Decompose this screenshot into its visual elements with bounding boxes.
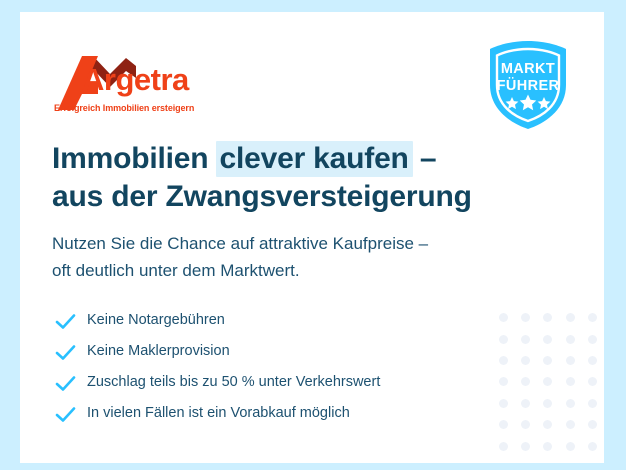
check-icon [53,373,79,393]
list-item-label: Keine Maklerprovision [87,344,230,359]
headline-text-post: – [412,142,437,175]
subheadline-line-1: Nutzen Sie die Chance auf attraktive Kau… [52,231,552,258]
headline-line-1: Immobilien clever kaufen – [52,140,582,178]
list-item: Keine Maklerprovision [53,336,523,367]
subheadline-line-2: oft deutlich unter dem Marktwert. [52,258,552,285]
list-item: Keine Notargebühren [53,305,523,336]
list-item-label: Zuschlag teils bis zu 50 % unter Verkehr… [87,375,380,390]
logo-wordmark: Argetra [82,62,189,98]
banner-card: Argetra Erfolgreich Immobilien ersteiger… [20,12,604,463]
badge-line-1: MARKT [484,61,572,77]
check-icon [53,404,79,424]
subheadline: Nutzen Sie die Chance auf attraktive Kau… [52,231,552,285]
badge-line-2: FÜHRER [484,78,572,94]
headline-line-2: aus der Zwangsversteigerung [52,178,582,216]
check-icon [53,342,79,362]
ad-banner: Argetra Erfolgreich Immobilien ersteiger… [0,0,626,470]
headline-highlight: clever kaufen [216,141,413,177]
check-icon [53,311,79,331]
market-leader-badge: MARKT FÜHRER [484,37,572,133]
argetra-logo: Argetra Erfolgreich Immobilien ersteiger… [52,48,232,120]
logo-tagline: Erfolgreich Immobilien ersteigern [54,103,194,113]
list-item: In vielen Fällen ist ein Vorabkauf mögli… [53,398,523,429]
headline-text-pre: Immobilien [52,142,217,175]
list-item: Zuschlag teils bis zu 50 % unter Verkehr… [53,367,523,398]
benefits-list: Keine Notargebühren Keine Maklerprovisio… [53,305,523,429]
headline: Immobilien clever kaufen – aus der Zwang… [52,140,582,217]
list-item-label: In vielen Fällen ist ein Vorabkauf mögli… [87,406,350,421]
list-item-label: Keine Notargebühren [87,313,225,328]
